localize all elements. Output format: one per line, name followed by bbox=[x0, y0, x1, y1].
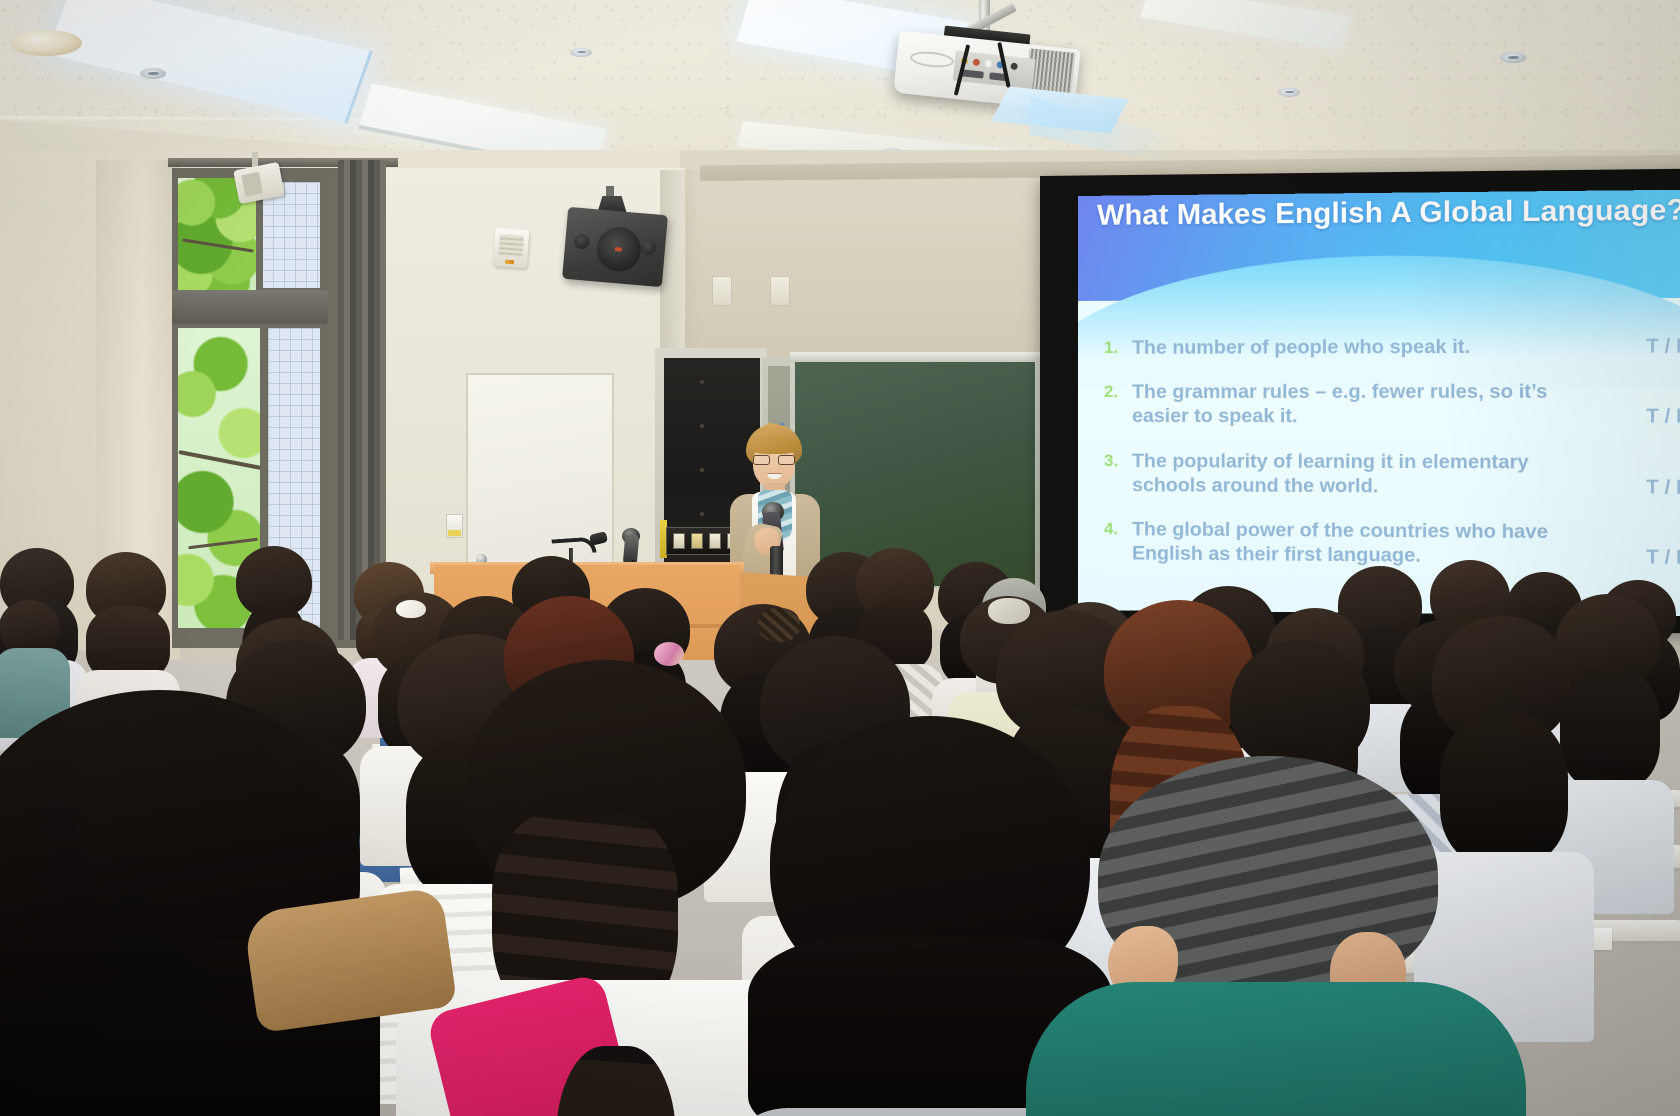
slide-bullet: 2. The grammar rules – e.g. fewer rules,… bbox=[1104, 379, 1680, 429]
hair-bow-icon bbox=[396, 600, 426, 618]
chalkboard-top-rail bbox=[790, 352, 1040, 362]
wall-plate bbox=[770, 276, 790, 306]
wall-plate bbox=[712, 276, 732, 306]
hair-scrunchie-icon bbox=[654, 642, 684, 666]
slide-bullet-number: 2. bbox=[1104, 380, 1132, 428]
projector-port bbox=[961, 69, 984, 78]
person-hair bbox=[1560, 668, 1660, 790]
slide-bullet-text: The global power of the countries who ha… bbox=[1132, 517, 1680, 570]
lecture-hall-scene: What Makes English A Global Language? 1.… bbox=[0, 0, 1680, 1116]
rack-screws bbox=[700, 380, 704, 540]
presenter bbox=[722, 424, 826, 584]
projector-port bbox=[1010, 62, 1018, 70]
alarm-grill-icon bbox=[498, 234, 523, 258]
sprinkler-head bbox=[1500, 52, 1526, 63]
sprinkler-head bbox=[1278, 88, 1300, 97]
speaker-tweeter-icon bbox=[640, 239, 656, 255]
slide-true-false: T / F bbox=[1646, 404, 1680, 429]
slide-bullet: 3. The popularity of learning it in elem… bbox=[1104, 449, 1680, 500]
av-button[interactable] bbox=[691, 533, 703, 549]
slide-bullet-number: 1. bbox=[1104, 336, 1132, 360]
av-button[interactable] bbox=[709, 533, 721, 549]
slide-bullet-text: The number of people who speak it. bbox=[1132, 334, 1680, 360]
chalkboard bbox=[795, 360, 1035, 586]
slide-bullet-number: 4. bbox=[1104, 517, 1132, 566]
braided-bun-icon bbox=[758, 608, 800, 642]
glasses-icon bbox=[753, 455, 795, 465]
presenter-fringe bbox=[748, 434, 800, 454]
projector-port bbox=[973, 58, 981, 66]
slide-bullet-number: 3. bbox=[1104, 449, 1132, 498]
slide-bullet: 4. The global power of the countries who… bbox=[1104, 517, 1680, 570]
sprinkler-head bbox=[140, 68, 166, 79]
slide-body: 1. The number of people who speak it. T … bbox=[1104, 334, 1680, 591]
person-torso-green-shirt bbox=[1026, 982, 1526, 1116]
sprinkler-head bbox=[570, 48, 592, 57]
slide-true-false: T / F bbox=[1646, 475, 1680, 500]
downlight bbox=[10, 30, 82, 56]
light-switch[interactable] bbox=[446, 514, 463, 538]
slide-bullet-text: The popularity of learning it in element… bbox=[1132, 449, 1680, 500]
slide-true-false: T / F bbox=[1646, 334, 1680, 359]
alarm-led-icon bbox=[505, 260, 514, 265]
speaker-logo-icon bbox=[615, 247, 622, 252]
projector-port bbox=[984, 60, 992, 68]
av-button[interactable] bbox=[673, 533, 685, 549]
slide-bullet: 1. The number of people who speak it. T … bbox=[1104, 334, 1680, 360]
wall-speaker bbox=[562, 207, 668, 287]
window-sash-bar bbox=[172, 290, 328, 324]
slide-true-false: T / F bbox=[1646, 545, 1680, 570]
slide-title: What Makes English A Global Language? bbox=[1078, 194, 1680, 233]
person-hair bbox=[1440, 714, 1568, 866]
speaker-tweeter-icon bbox=[574, 233, 590, 249]
projection-screen: What Makes English A Global Language? 1.… bbox=[1078, 190, 1680, 617]
slide-bullet-text: The grammar rules – e.g. fewer rules, so… bbox=[1132, 379, 1680, 429]
hair-bun-icon bbox=[988, 598, 1030, 624]
alarm-box bbox=[493, 228, 530, 268]
window-mullion bbox=[322, 174, 330, 634]
